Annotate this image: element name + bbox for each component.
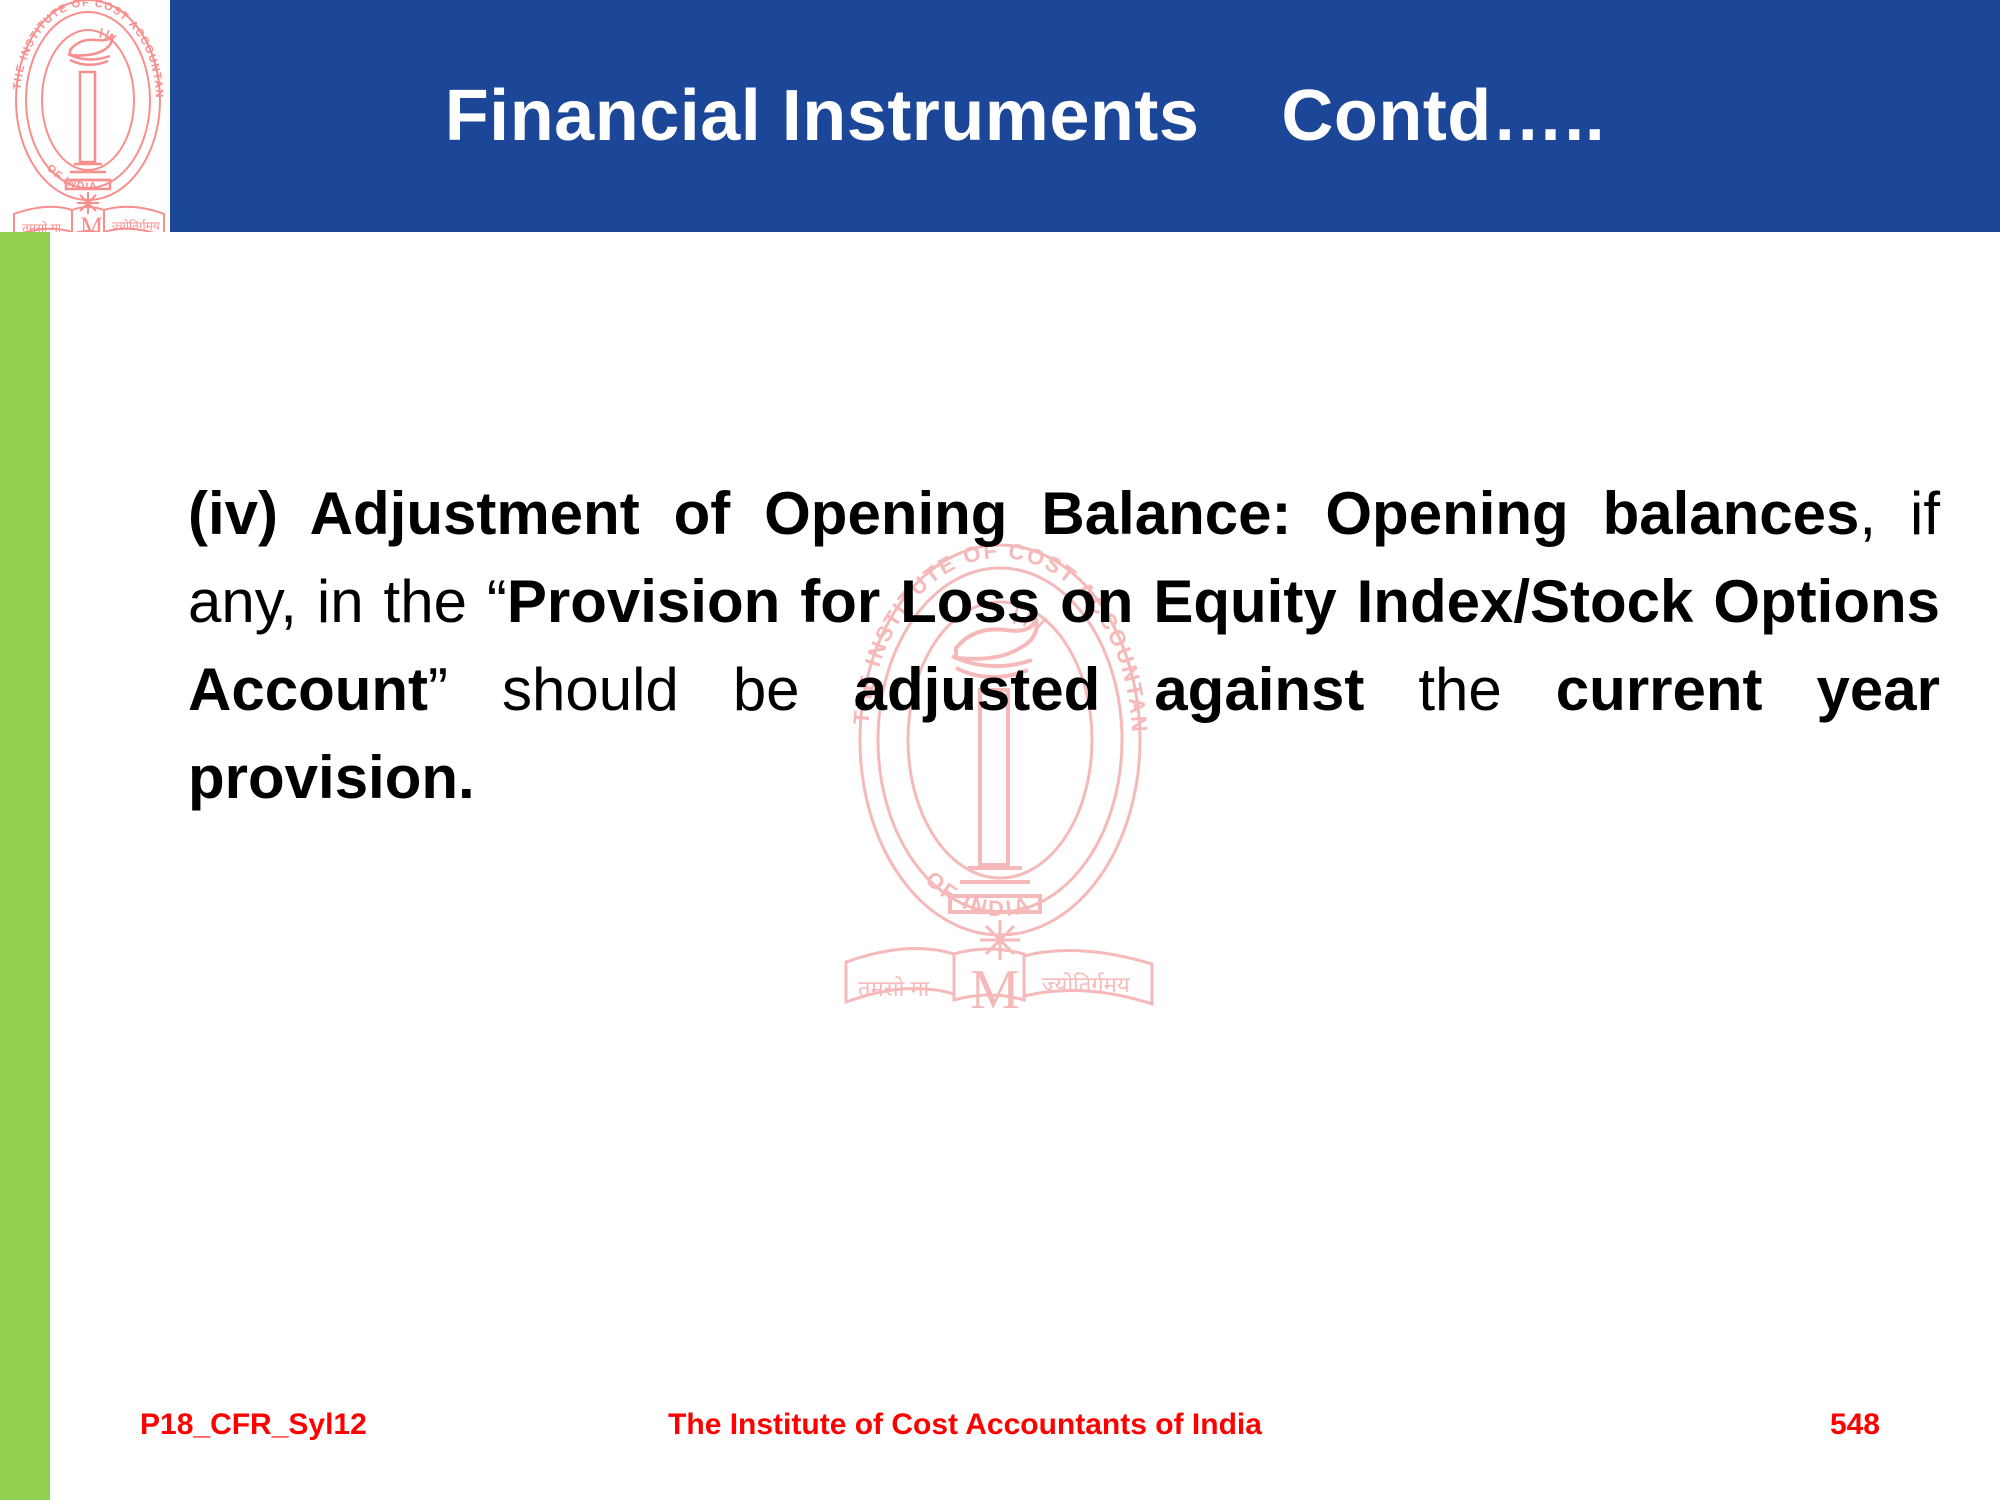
body-segment-0: (iv) Adjustment of Opening Balance: Open… bbox=[188, 480, 1859, 547]
footer-institute-name: The Institute of Cost Accountants of Ind… bbox=[0, 1408, 2000, 1442]
footer-page-number: 548 bbox=[1830, 1408, 1880, 1442]
left-accent-bar bbox=[0, 232, 50, 1500]
svg-text:तमसो मा: तमसो मा bbox=[22, 221, 62, 232]
page-title: Financial Instruments Contd….. bbox=[170, 0, 2000, 232]
svg-text:OF INDIA: OF INDIA bbox=[921, 866, 1036, 921]
body-segment-2: “ bbox=[487, 568, 507, 635]
svg-text:THE INSTITUTE OF COST ACCOUNTA: THE INSTITUTE OF COST ACCOUNTANTS bbox=[8, 0, 165, 99]
svg-text:M: M bbox=[970, 959, 1020, 1010]
body-segment-4: ” should be bbox=[428, 656, 854, 723]
body-segment-5: adjusted against bbox=[854, 656, 1365, 723]
svg-text:M: M bbox=[80, 212, 103, 232]
svg-text:ज्योतिर्गमय: ज्योतिर्गमय bbox=[1042, 972, 1131, 997]
svg-text:ज्योतिर्गमय: ज्योतिर्गमय bbox=[112, 219, 161, 232]
institute-seal-logo-icon: THE INSTITUTE OF COST ACCOUNTANTS OF IND… bbox=[8, 0, 173, 232]
slide-root: Financial Instruments Contd….. THE INSTI… bbox=[0, 0, 2000, 1500]
footer: P18_CFR_Syl12 The Institute of Cost Acco… bbox=[0, 1408, 2000, 1468]
body-paragraph: (iv) Adjustment of Opening Balance: Open… bbox=[188, 470, 1940, 822]
header-band: Financial Instruments Contd….. bbox=[170, 0, 2000, 232]
svg-text:तमसो मा: तमसो मा bbox=[858, 976, 930, 1001]
body-segment-6: the bbox=[1364, 656, 1555, 723]
